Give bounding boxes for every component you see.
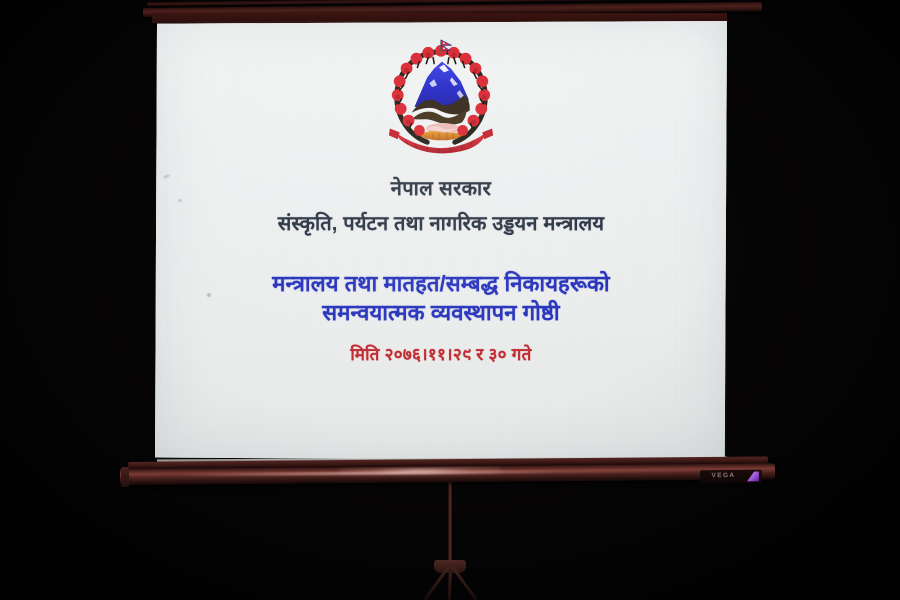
- tripod-leg-right: [451, 566, 477, 600]
- brand-plate: VEGA: [700, 470, 762, 484]
- tripod-pole: [448, 480, 452, 568]
- ministry-line: संस्कृति, पर्यटन तथा नागरिक उड्डयन मन्त्…: [278, 212, 604, 236]
- fabric-scuff: [178, 199, 182, 202]
- nepal-emblem-icon: [382, 38, 500, 156]
- weight-bar-endcap: [121, 467, 129, 487]
- weight-bar-glint: [340, 467, 500, 475]
- brand-logo-icon: [747, 471, 759, 481]
- tripod-hub: [434, 560, 466, 573]
- event-date-line: मिति २०७६।११।२९ र ३० गते: [350, 342, 531, 365]
- fabric-scuff: [207, 293, 211, 297]
- photo-scene: नेपाल सरकार संस्कृति, पर्यटन तथा नागरिक …: [0, 0, 900, 600]
- event-title-line-2: समन्वयात्मक व्यवस्थापन गोष्ठी: [272, 298, 609, 327]
- event-title: मन्त्रालय तथा मातहत/सम्बद्ध निकायहरूको स…: [272, 269, 609, 328]
- event-title-line-1: मन्त्रालय तथा मातहत/सम्बद्ध निकायहरूको: [272, 269, 609, 298]
- brand-name: VEGA: [703, 473, 744, 480]
- projection-screen: नेपाल सरकार संस्कृति, पर्यटन तथा नागरिक …: [155, 21, 727, 461]
- government-line: नेपाल सरकार: [391, 178, 491, 201]
- presentation-slide: नेपाल सरकार संस्कृति, पर्यटन तथा नागरिक …: [155, 21, 727, 461]
